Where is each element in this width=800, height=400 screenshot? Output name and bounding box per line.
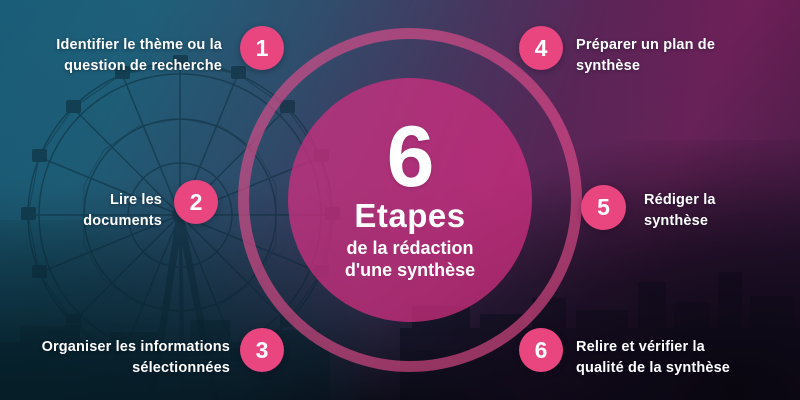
step-label-2: Lire les documents — [22, 190, 162, 231]
step-label-1: Identifier le thème ou la question de re… — [8, 35, 222, 76]
step-badge-5-number: 5 — [597, 196, 610, 219]
infographic-canvas: 6 Etapes de la rédaction d'une synthèse … — [0, 0, 800, 400]
step-badge-5[interactable]: 5 — [581, 185, 626, 230]
center-disc — [288, 78, 532, 322]
step-badge-1[interactable]: 1 — [240, 26, 284, 70]
step-label-5: Rédiger la synthèse — [644, 190, 794, 231]
step-badge-3-number: 3 — [256, 339, 269, 362]
step-badge-4[interactable]: 4 — [519, 26, 563, 70]
step-label-4: Préparer un plan de synthèse — [576, 35, 782, 76]
step-label-3: Organiser les informations sélectionnées — [8, 337, 230, 378]
step-badge-6-number: 6 — [535, 339, 548, 362]
step-label-6: Relire et vérifier la qualité de la synt… — [576, 337, 792, 378]
step-badge-3[interactable]: 3 — [240, 328, 284, 372]
step-badge-4-number: 4 — [535, 37, 548, 60]
step-badge-1-number: 1 — [256, 37, 269, 60]
step-badge-6[interactable]: 6 — [519, 328, 563, 372]
step-badge-2-number: 2 — [190, 191, 203, 214]
step-badge-2[interactable]: 2 — [174, 180, 218, 224]
